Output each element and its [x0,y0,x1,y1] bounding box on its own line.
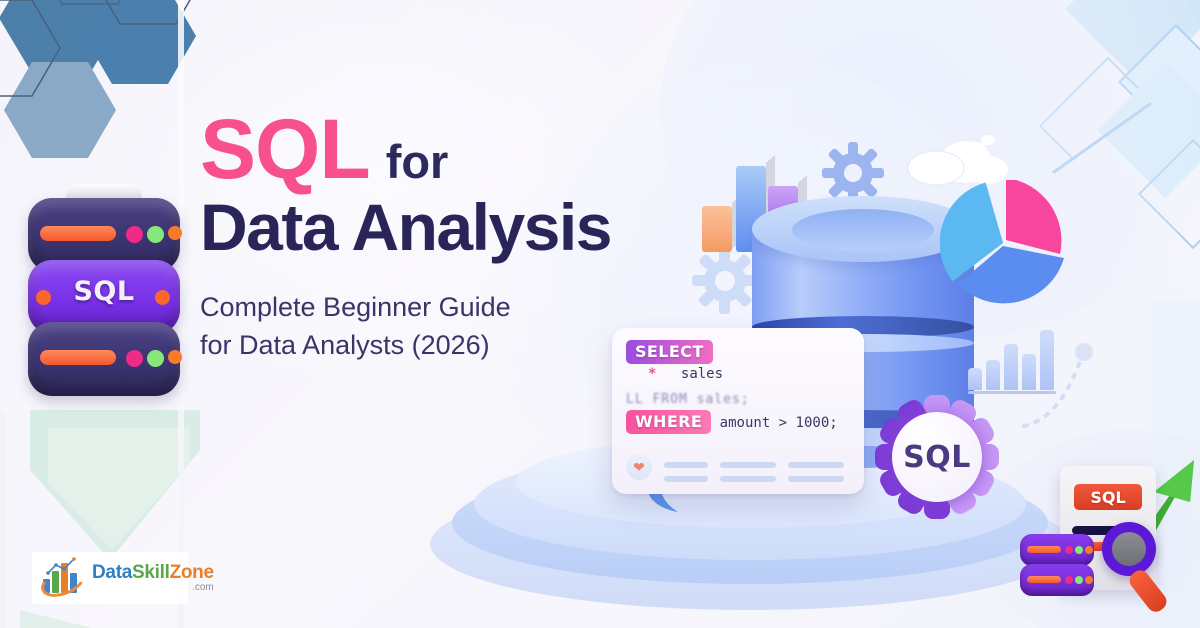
sql-code-card: SELECT * sales LL FROM sales; WHERE amou… [612,328,864,494]
mini-database-stack-icon [1020,534,1094,598]
blurred-from-clause: LL FROM sales; [626,392,750,407]
logo-word-zone: Zone [170,562,214,583]
keyword-where: WHERE [626,410,711,434]
site-logo[interactable]: DataSkillZone .com [32,552,188,604]
page-title: Data Analysis [200,194,720,261]
bar-chart-swoosh-icon [40,559,86,597]
db-sql-label: SQL [50,276,158,307]
sql-gear-badge: SQL [872,392,1002,522]
magnifier-handle [1126,567,1170,616]
cloud-bubble-icon [962,128,1002,162]
bar-4 [1022,354,1036,390]
file-sql-label: SQL [1074,484,1142,510]
logo-word-skill: Skill [132,562,170,583]
diamond-pattern-lower-icon [1095,60,1200,260]
title-highlight: SQL [200,108,370,190]
heart-icon: ❤ [626,454,652,480]
bar-5 [1040,330,1054,390]
code-line-3-blurred: LL FROM sales; [626,390,850,410]
code-line-2: * sales [626,365,850,390]
diagonal-line-icon [1050,100,1170,180]
logo-tld: .com [92,583,214,593]
gear-core: SQL [892,412,982,502]
magnifier-icon [1102,522,1156,576]
where-condition: amount > 1000; [720,415,838,431]
keyword-select: SELECT [626,340,713,364]
bar-chart-illustration [968,330,1056,394]
subheading-line-1: Complete Beginner Guide [200,288,720,326]
bar-2 [986,360,1000,390]
bar-3 [1004,344,1018,390]
diamond-pattern-icon [1040,0,1200,160]
code-line-1: SELECT [626,340,850,365]
pie-chart-illustration [940,180,1066,306]
logo-word-data: Data [92,562,132,583]
select-star: * [648,366,656,382]
headline-block: SQLfor Data Analysis Complete Beginner G… [200,108,720,364]
title-row: SQLfor [200,108,720,190]
db-ring-bottom [28,322,180,396]
bar-1 [968,368,982,390]
gear-icon-upper [822,142,884,204]
hexagon-pattern-icon [0,0,210,176]
logo-wordmark: DataSkillZone .com [92,563,214,593]
sql-file-cluster: SQL [1014,458,1200,628]
hero-banner: SQL SQLfor Data Analysis Complete Beginn… [0,0,1200,628]
title-connector: for [386,134,449,189]
select-table: sales [681,366,723,382]
database-stack-icon: SQL [28,196,180,396]
code-line-4: WHERE amount > 1000; [626,410,850,438]
gear-sql-label: SQL [903,440,971,475]
